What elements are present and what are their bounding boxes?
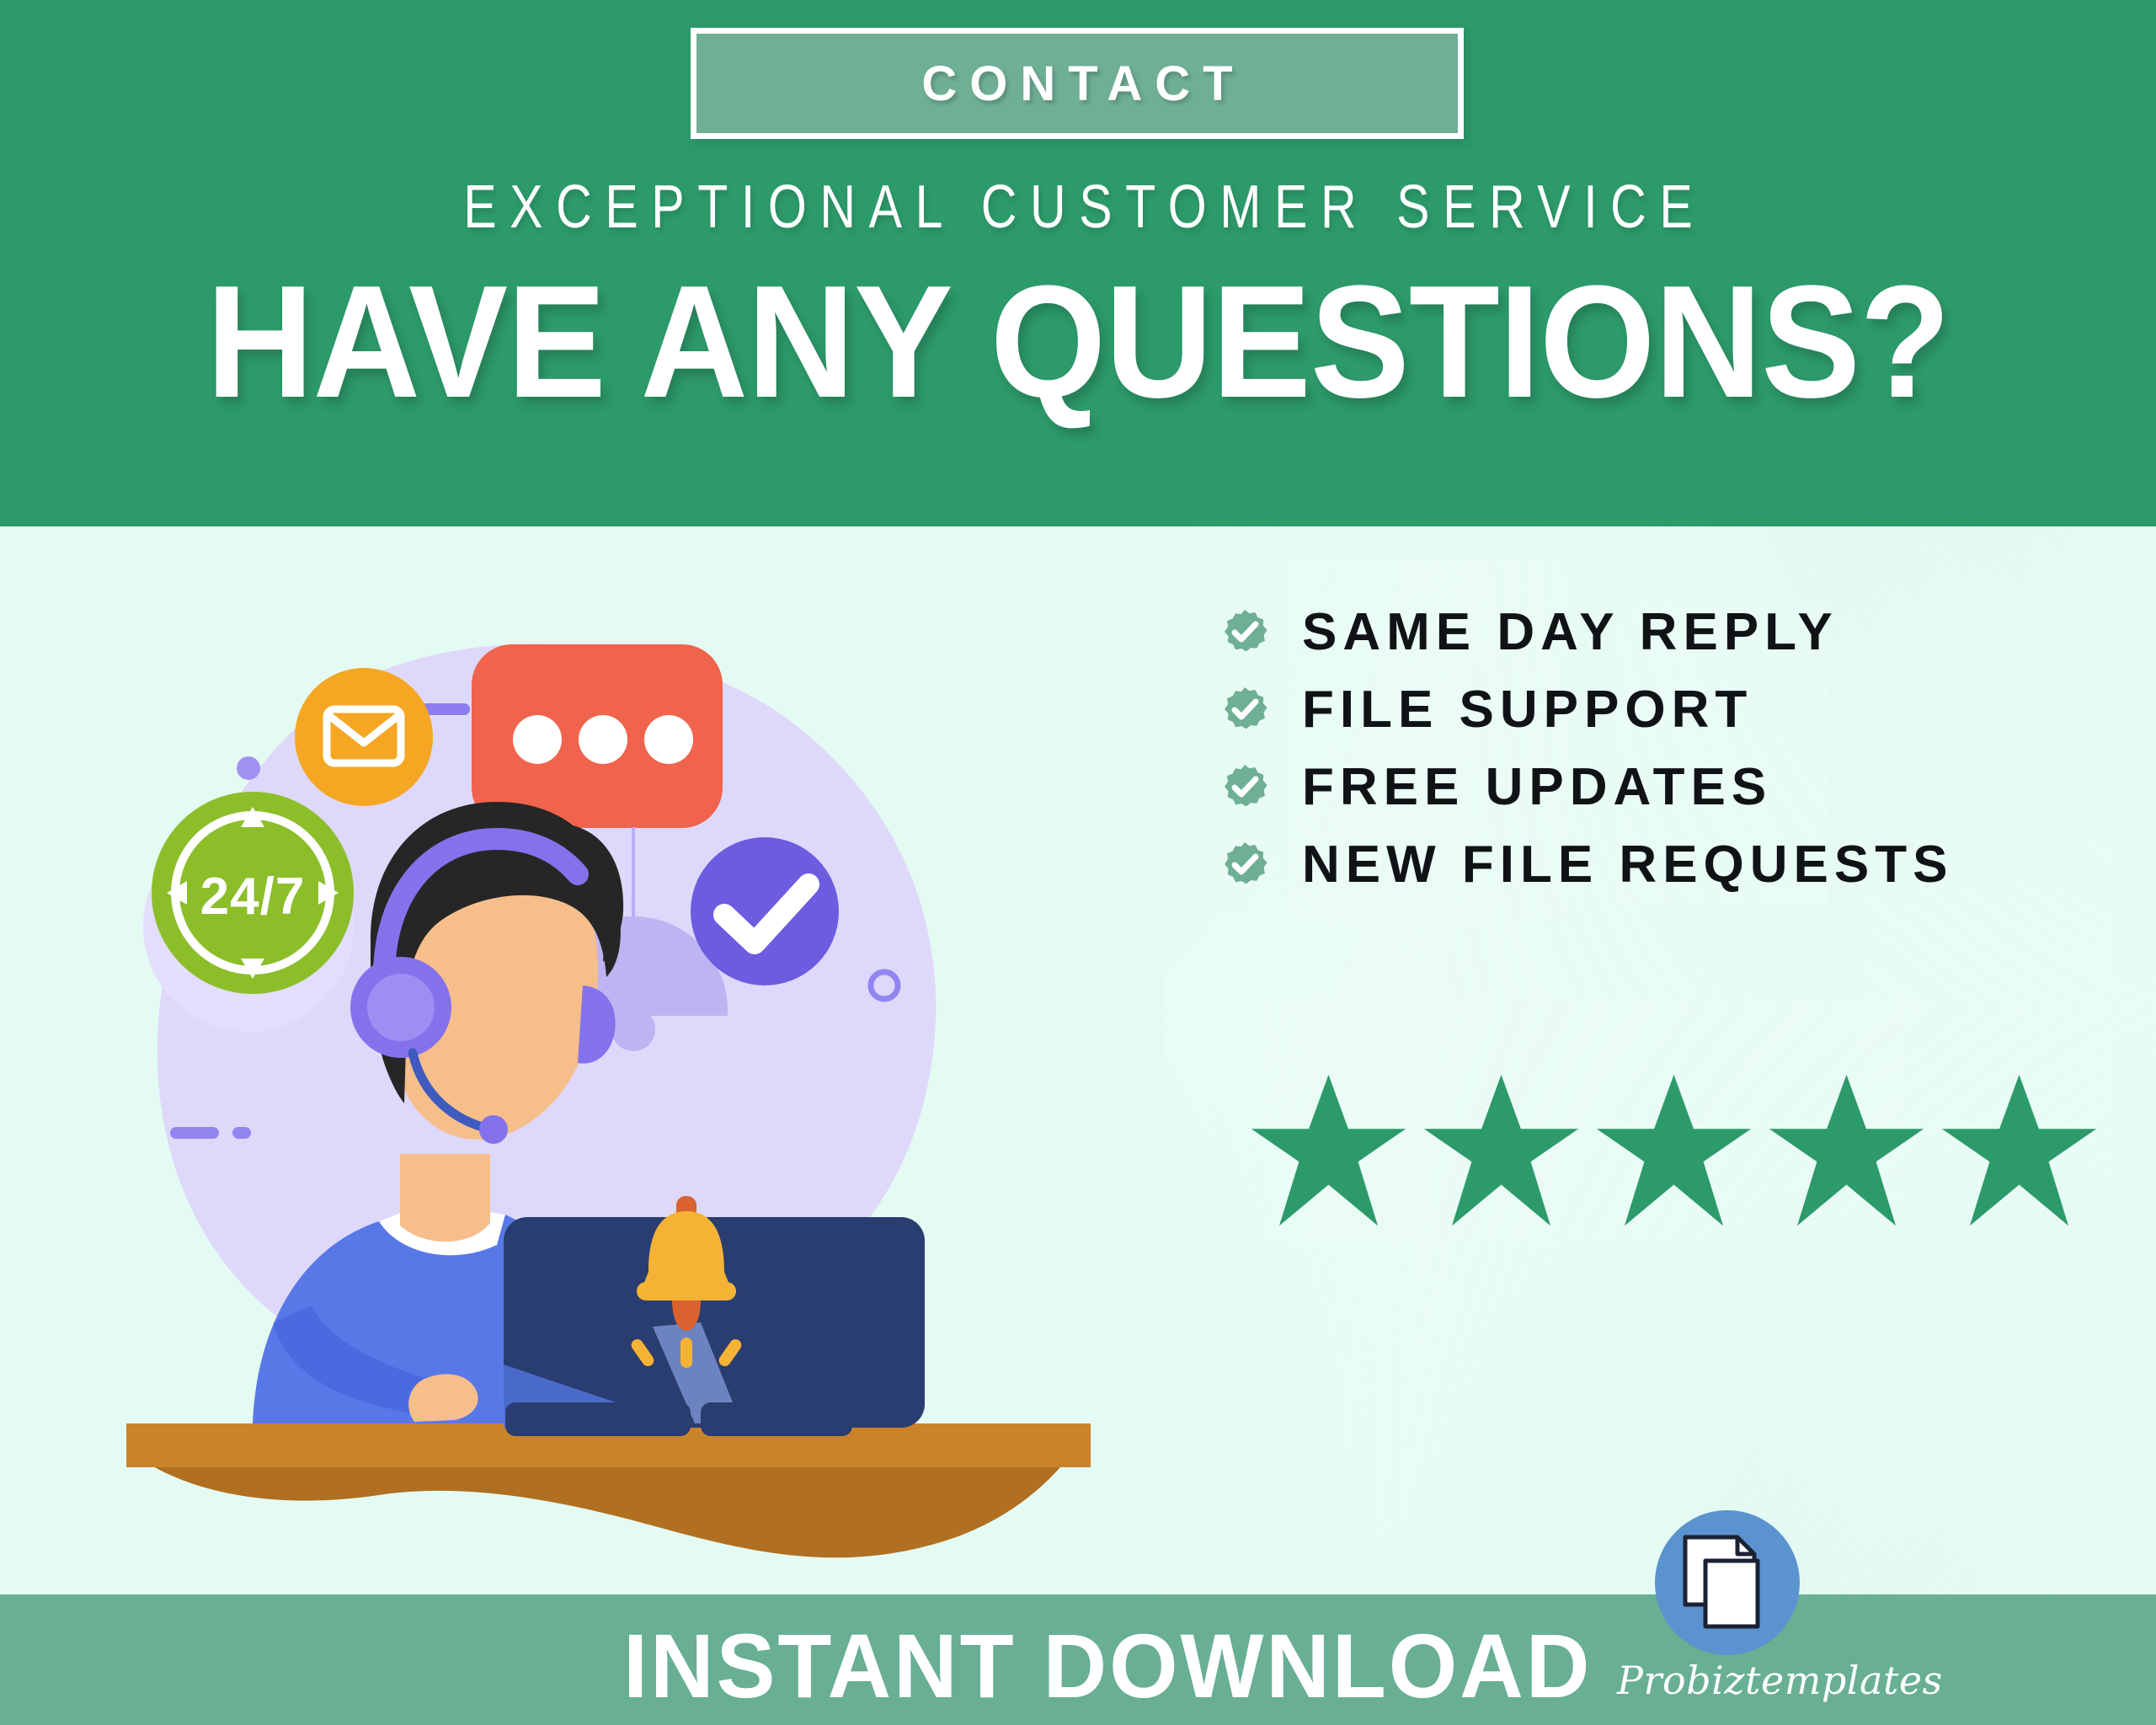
header-subtitle: EXCEPTIONAL CUSTOMER SERVICE — [194, 173, 1961, 242]
contact-badge: CONTACT — [691, 28, 1464, 139]
feature-label: NEW FILE REQUESTS — [1302, 839, 1953, 891]
customer-support-illustration: 24/7 — [101, 581, 1196, 1592]
svg-text:24/7: 24/7 — [200, 868, 306, 926]
email-icon-badge — [295, 668, 433, 806]
person-neck — [400, 1154, 490, 1242]
dash-decoration — [170, 1127, 219, 1139]
feature-item: SAME DAY REPLY — [1221, 602, 1953, 663]
star-icon — [1246, 1070, 1411, 1234]
check-badge-icon — [1221, 686, 1268, 734]
brand-name: Probiztemplates — [1617, 1658, 1836, 1703]
documents-icon — [1682, 1534, 1773, 1632]
headset-mic-tip — [479, 1115, 508, 1144]
keyboard-left — [505, 1402, 691, 1436]
header-band: CONTACT EXCEPTIONAL CUSTOMER SERVICE HAV… — [0, 0, 2156, 526]
feature-label: FILE SUPPORT — [1302, 684, 1753, 736]
check-badge-icon — [1221, 609, 1268, 656]
feature-label: SAME DAY REPLY — [1302, 606, 1838, 659]
check-badge-icon — [1221, 764, 1268, 811]
instant-download-label: INSTANT DOWNLOAD — [623, 1613, 1592, 1718]
contact-badge-label: CONTACT — [909, 56, 1245, 112]
star-icon — [1419, 1070, 1583, 1234]
feature-item: NEW FILE REQUESTS — [1221, 835, 1953, 895]
headset-earcup-inner — [367, 974, 435, 1041]
star-icon — [1764, 1070, 1929, 1234]
page-title: HAVE ANY QUESTIONS? — [76, 261, 2081, 425]
dot-decoration — [237, 756, 260, 780]
dash-decoration — [232, 1127, 251, 1139]
feature-list: SAME DAY REPLY FILE SUPPORT FREE UPDATES — [1221, 602, 1953, 912]
check-badge-icon — [1221, 841, 1268, 889]
purple-check-badge — [691, 837, 839, 985]
feature-item: FREE UPDATES — [1221, 757, 1953, 818]
poster-canvas: 24/7 — [0, 0, 2156, 1725]
star-icon — [1592, 1070, 1756, 1234]
24-7-clock-badge: 24/7 — [152, 792, 354, 994]
brand-logo: Probiztemplates — [1617, 1510, 1836, 1721]
keyboard-right — [701, 1402, 852, 1436]
feature-item: FILE SUPPORT — [1221, 680, 1953, 740]
brand-circle — [1655, 1510, 1800, 1655]
star-rating — [1246, 1070, 2101, 1234]
feature-label: FREE UPDATES — [1302, 761, 1772, 814]
star-icon — [1937, 1070, 2101, 1234]
